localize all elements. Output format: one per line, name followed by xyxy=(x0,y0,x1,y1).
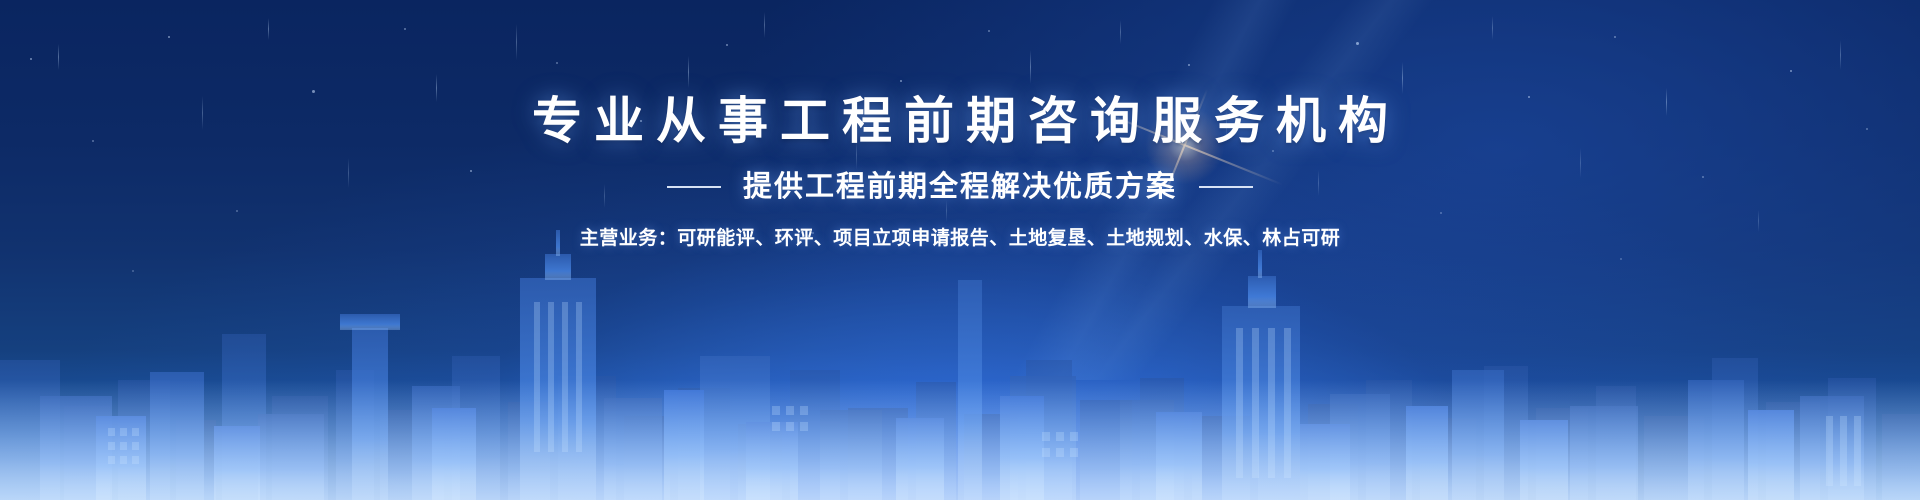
star xyxy=(1440,212,1442,214)
star xyxy=(236,210,238,212)
star-streak xyxy=(946,200,947,222)
star xyxy=(900,80,902,82)
star xyxy=(168,36,170,38)
banner-headline: 专业从事工程前期咨询服务机构 xyxy=(0,96,1920,146)
star xyxy=(1614,36,1616,38)
star-streak xyxy=(1492,16,1493,40)
star-streak xyxy=(856,140,857,170)
star-streak xyxy=(604,184,605,208)
banner-subheadline: 提供工程前期全程解决优质方案 xyxy=(743,172,1177,201)
star xyxy=(1356,42,1359,45)
star xyxy=(812,232,814,234)
star xyxy=(988,30,990,32)
rule-left-icon xyxy=(667,186,721,188)
light-rays xyxy=(840,0,1540,380)
star-streak xyxy=(1318,170,1319,196)
star xyxy=(132,270,134,272)
star xyxy=(726,44,728,46)
star xyxy=(1620,258,1622,260)
banner-services-line: 主营业务：可研能评、环评、项目立项申请报告、土地复垦、土地规划、水保、林占可研 xyxy=(0,229,1920,248)
star-streak xyxy=(1226,110,1227,138)
star-streak xyxy=(1758,210,1759,232)
star-streak xyxy=(436,74,437,102)
skyline-layer-far xyxy=(0,334,1920,500)
hero-banner: 专业从事工程前期咨询服务机构 提供工程前期全程解决优质方案 主营业务：可研能评、… xyxy=(0,0,1920,500)
star xyxy=(1528,96,1530,98)
star-streak xyxy=(268,18,269,40)
horizon-glow xyxy=(0,280,1920,500)
subheadline-row: 提供工程前期全程解决优质方案 xyxy=(0,172,1920,201)
building-windows xyxy=(108,302,1861,486)
bottom-fade xyxy=(0,380,1920,500)
star-streak xyxy=(58,44,59,70)
star-streak xyxy=(348,158,349,188)
star xyxy=(92,140,94,142)
star-streak xyxy=(1402,62,1403,94)
star xyxy=(1866,128,1868,130)
star-streak xyxy=(1120,20,1121,44)
star xyxy=(404,28,406,30)
star xyxy=(640,120,642,122)
star xyxy=(470,170,472,172)
lens-flare-icon xyxy=(1140,100,1230,190)
star xyxy=(1066,196,1068,198)
starfield xyxy=(0,0,1920,500)
star xyxy=(312,90,315,93)
skyline-layer-mid xyxy=(40,230,1864,500)
banner-copy: 专业从事工程前期咨询服务机构 提供工程前期全程解决优质方案 主营业务：可研能评、… xyxy=(0,96,1920,248)
star-streak xyxy=(1840,40,1841,70)
star xyxy=(30,58,32,60)
star-streak xyxy=(1580,148,1581,178)
star-streak xyxy=(516,24,517,60)
star-streak xyxy=(1666,88,1667,116)
star-streak xyxy=(688,56,689,88)
star xyxy=(1702,176,1704,178)
star-streak xyxy=(1030,50,1031,84)
star-streak xyxy=(202,96,203,130)
star xyxy=(556,62,558,64)
star-streak xyxy=(764,12,765,38)
horizon-glow-core xyxy=(80,402,1840,500)
star xyxy=(1790,70,1792,72)
star xyxy=(1188,64,1190,66)
skyline-layer-near xyxy=(96,390,1794,500)
rule-right-icon xyxy=(1199,186,1253,188)
city-skyline xyxy=(0,210,1920,500)
star xyxy=(1272,150,1274,152)
